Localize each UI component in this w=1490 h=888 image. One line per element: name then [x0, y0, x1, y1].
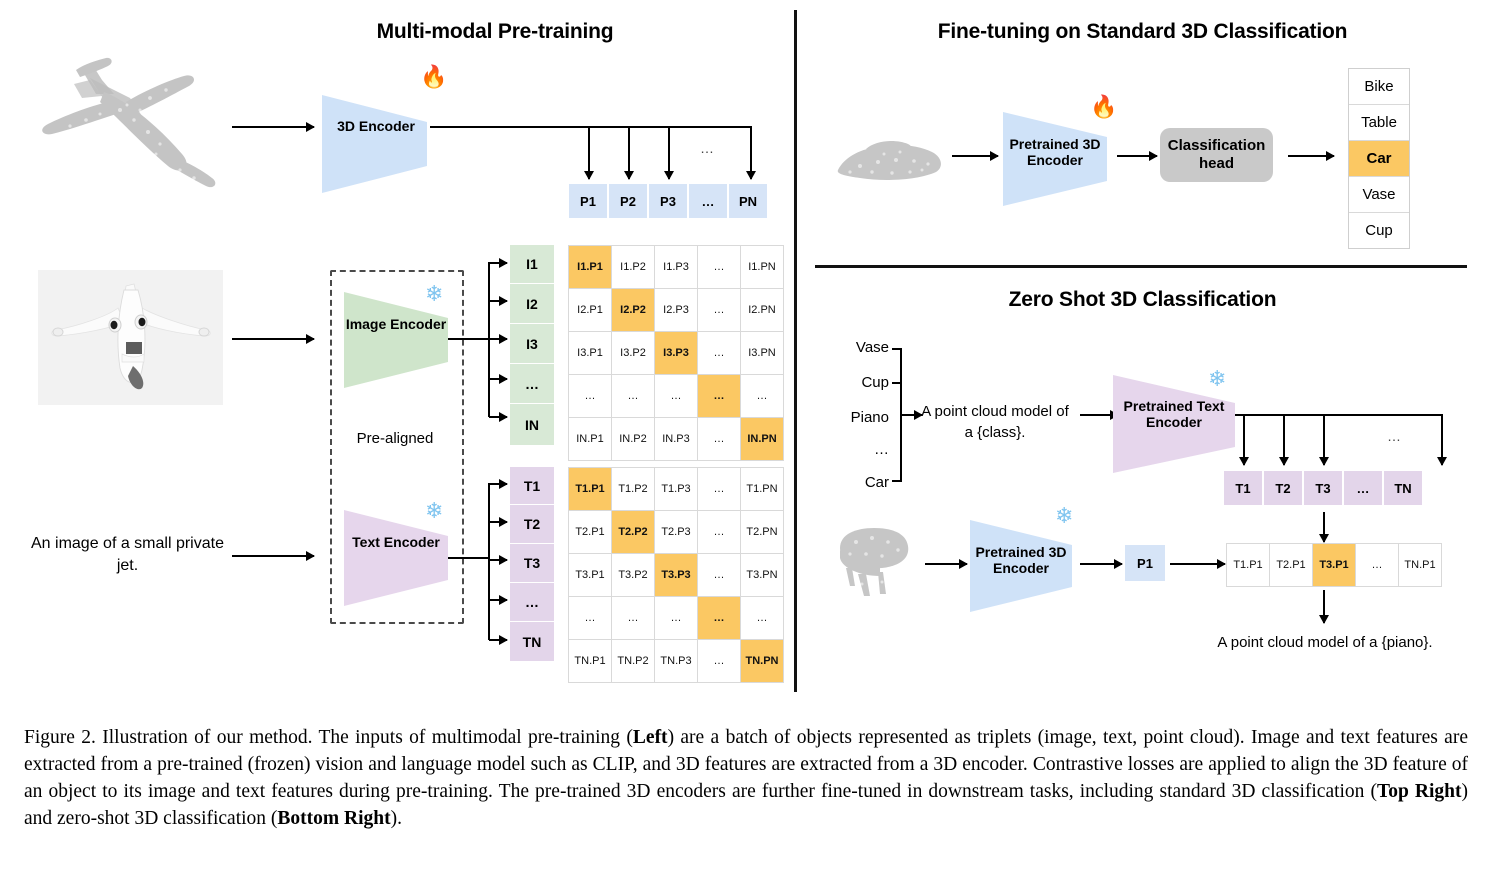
zeroshot-class-cup: Cup	[833, 374, 889, 391]
image-thumbnail-jet	[38, 270, 223, 405]
matrix-cell: I1.PN	[741, 246, 784, 289]
arrow-to-p3	[668, 127, 670, 179]
prealigned-label: Pre-aligned	[330, 430, 460, 447]
matrix-cell: …	[569, 597, 612, 640]
pretrained-3d-encoder-label-zs: Pretrained 3D Encoder	[970, 544, 1072, 576]
arrow-to-i2	[489, 300, 507, 302]
point-cloud-car	[832, 130, 947, 190]
point-token: P1	[568, 183, 608, 219]
arrow-pointcloud-to-3d-encoder	[232, 126, 314, 128]
vertical-divider	[794, 10, 797, 692]
matrix-cell: T1.P1	[569, 468, 612, 511]
matrix-cell: IN.P3	[655, 418, 698, 461]
matrix-cell: …	[698, 640, 741, 683]
matrix-cell: IN.P2	[612, 418, 655, 461]
arrow-to-t1-zs	[1243, 415, 1245, 465]
matrix-row: … … … … …	[569, 375, 784, 418]
matrix-cell: TN.P2	[612, 640, 655, 683]
score-cell: T1.P1	[1227, 544, 1270, 587]
arrow-to-p1	[588, 127, 590, 179]
caption-part-1: Figure 2. Illustration of our method. Th…	[24, 727, 633, 748]
text-token-column: T1 T2 T3 … TN	[510, 467, 554, 661]
point-token: PN	[728, 183, 768, 219]
arrow-to-t-ellipsis	[489, 599, 507, 601]
matrix-cell: …	[655, 597, 698, 640]
matrix-cell: …	[698, 468, 741, 511]
score-cell: T2.P1	[1270, 544, 1313, 587]
zs-text-token-row: T1 T2 T3 … TN	[1223, 470, 1423, 506]
matrix-cell: TN.P3	[655, 640, 698, 683]
left-panel-title: Multi-modal Pre-training	[205, 20, 785, 44]
image-token: I3	[510, 324, 554, 364]
arrow-to-tn	[489, 639, 507, 641]
score-row: T1.P1 T2.P1 T3.P1 … TN.P1	[1227, 544, 1442, 587]
point-cloud-piano	[830, 518, 920, 603]
matrix-row: I3.P1 I3.P2 I3.P3 … I3.PN	[569, 332, 784, 375]
matrix-cell: T2.P3	[655, 511, 698, 554]
arrow-to-t2-zs	[1283, 415, 1285, 465]
image-encoder-shape	[344, 292, 452, 388]
matrix-row: T1.P1 T1.P2 T1.P3 … T1.PN	[569, 468, 784, 511]
zs-point-token-label: P1	[1137, 556, 1153, 571]
bracket-tick	[892, 480, 902, 482]
zs-text-token-ellipsis: …	[1387, 428, 1401, 444]
arrow-encoder-to-p1-zs	[1080, 563, 1122, 565]
text-point-similarity-matrix: T1.P1 T1.P2 T1.P3 … T1.PN T2.P1 T2.P2 T2…	[568, 467, 784, 683]
point-token-row: P1 P2 P3 … PN	[568, 183, 768, 219]
matrix-cell: …	[698, 597, 741, 640]
bus-line-image-encoder	[448, 338, 488, 340]
snowflake-icon-text-encoder: ❄	[425, 500, 443, 522]
image-encoder-label: Image Encoder	[344, 316, 448, 332]
matrix-row: TN.P1 TN.P2 TN.P3 … TN.PN	[569, 640, 784, 683]
matrix-cell: …	[698, 554, 741, 597]
classification-result-list: Bike Table Car Vase Cup	[1348, 68, 1410, 249]
text-token: T2	[510, 505, 554, 544]
zeroshot-result-text: A point cloud model of a {piano}.	[1185, 634, 1465, 651]
arrow-to-in	[489, 416, 507, 418]
classification-head-label: Classification head	[1160, 137, 1273, 173]
matrix-cell: I3.P2	[612, 332, 655, 375]
arrow-piano-to-encoder	[925, 563, 967, 565]
arrow-to-t2	[489, 521, 507, 523]
matrix-cell: …	[698, 246, 741, 289]
arrow-to-i-ellipsis	[489, 378, 507, 380]
snowflake-icon-image-encoder: ❄	[425, 283, 443, 305]
bottom-right-title: Zero Shot 3D Classification	[820, 288, 1465, 312]
matrix-cell: T1.PN	[741, 468, 784, 511]
matrix-cell: I1.P1	[569, 246, 612, 289]
matrix-cell: I3.P1	[569, 332, 612, 375]
arrow-to-tn-zs	[1441, 415, 1443, 465]
matrix-cell: I2.P1	[569, 289, 612, 332]
arrow-car-to-encoder	[952, 155, 998, 157]
caption-bold-topright: Top Right	[1377, 781, 1461, 802]
zeroshot-class-vase: Vase	[833, 339, 889, 356]
matrix-cell: …	[655, 375, 698, 418]
matrix-cell: …	[698, 511, 741, 554]
zs-text-token: T3	[1303, 470, 1343, 506]
matrix-cell: I2.P2	[612, 289, 655, 332]
prompt-template-text: A point cloud model of a {class}.	[918, 401, 1072, 443]
bus-line-text-encoder-zs	[1235, 414, 1443, 416]
fire-icon-3d-encoder: 🔥	[420, 66, 447, 88]
image-token: IN	[510, 404, 554, 445]
matrix-cell: TN.PN	[741, 640, 784, 683]
text-input-caption: An image of a small private jet.	[30, 533, 225, 577]
pretrained-text-encoder-label: Pretrained Text Encoder	[1113, 398, 1235, 430]
matrix-cell: I2.P3	[655, 289, 698, 332]
top-right-title: Fine-tuning on Standard 3D Classificatio…	[820, 20, 1465, 44]
image-point-similarity-matrix: I1.P1 I1.P2 I1.P3 … I1.PN I2.P1 I2.P2 I2…	[568, 245, 784, 461]
arrow-to-t3	[489, 559, 507, 561]
arrow-image-to-image-encoder	[232, 338, 314, 340]
arrow-head-to-classlist	[1288, 155, 1334, 157]
score-cell: …	[1356, 544, 1399, 587]
arrow-text-tokens-to-scores	[1323, 512, 1325, 542]
arrow-to-t3-zs	[1323, 415, 1325, 465]
image-token: …	[510, 364, 554, 404]
zs-text-token: T1	[1223, 470, 1263, 506]
matrix-row: I2.P1 I2.P2 I2.P3 … I2.PN	[569, 289, 784, 332]
matrix-row: T3.P1 T3.P2 T3.P3 … T3.PN	[569, 554, 784, 597]
arrow-to-i3	[489, 338, 507, 340]
matrix-row: I1.P1 I1.P2 I1.P3 … I1.PN	[569, 246, 784, 289]
matrix-cell: T3.P2	[612, 554, 655, 597]
matrix-cell: …	[698, 418, 741, 461]
pretrained-3d-encoder-label-ft: Pretrained 3D Encoder	[1003, 136, 1107, 168]
matrix-cell: I2.PN	[741, 289, 784, 332]
arrow-scores-to-result	[1323, 590, 1325, 623]
matrix-cell: T2.P2	[612, 511, 655, 554]
bracket-tick	[892, 348, 902, 350]
zs-text-token: …	[1343, 470, 1383, 506]
image-token-column: I1 I2 I3 … IN	[510, 245, 554, 445]
text-token: T3	[510, 544, 554, 583]
matrix-cell: …	[741, 375, 784, 418]
classification-head-box: Classification head	[1160, 128, 1273, 182]
image-token: I1	[510, 245, 554, 284]
bus-line-text-encoder	[448, 557, 488, 559]
score-cell: TN.P1	[1399, 544, 1442, 587]
matrix-row: … … … … …	[569, 597, 784, 640]
caption-bold-bottomright: Bottom Right	[277, 808, 390, 829]
matrix-cell: …	[698, 375, 741, 418]
zs-point-token: P1	[1125, 545, 1165, 581]
matrix-cell: T1.P3	[655, 468, 698, 511]
zs-text-token: TN	[1383, 470, 1423, 506]
matrix-cell: I3.PN	[741, 332, 784, 375]
bus-vertical-text	[488, 483, 490, 640]
matrix-cell: …	[569, 375, 612, 418]
matrix-cell: I1.P3	[655, 246, 698, 289]
text-encoder-shape	[344, 510, 452, 606]
class-option[interactable]: Vase	[1349, 177, 1409, 213]
point-token: P2	[608, 183, 648, 219]
matrix-cell: TN.P1	[569, 640, 612, 683]
zeroshot-class-car: Car	[833, 474, 889, 491]
bus-line-3d-to-point-tokens	[430, 126, 752, 128]
class-option[interactable]: Cup	[1349, 213, 1409, 248]
image-token: I2	[510, 284, 554, 324]
matrix-cell: I1.P2	[612, 246, 655, 289]
matrix-row: T2.P1 T2.P2 T2.P3 … T2.PN	[569, 511, 784, 554]
score-cell-selected: T3.P1	[1313, 544, 1356, 587]
zeroshot-class-piano: Piano	[825, 409, 889, 426]
caption-bold-left: Left	[633, 727, 668, 748]
zs-text-token: T2	[1263, 470, 1303, 506]
snowflake-icon-3d-encoder-zs: ❄	[1055, 505, 1073, 527]
zeroshot-class-ellipsis: …	[833, 441, 889, 458]
matrix-cell: T2.PN	[741, 511, 784, 554]
matrix-cell: T3.P3	[655, 554, 698, 597]
text-token: T1	[510, 467, 554, 505]
arrow-text-to-text-encoder	[232, 555, 314, 557]
matrix-cell: I3.P3	[655, 332, 698, 375]
fire-icon-finetune-encoder: 🔥	[1090, 96, 1117, 118]
horizontal-divider	[815, 265, 1467, 268]
text-token: …	[510, 583, 554, 622]
matrix-cell: …	[698, 332, 741, 375]
bracket-tick	[892, 382, 902, 384]
arrow-to-p2	[628, 127, 630, 179]
class-option[interactable]: Bike	[1349, 69, 1409, 105]
matrix-cell: T3.P1	[569, 554, 612, 597]
matrix-cell: T1.P2	[612, 468, 655, 511]
text-token: TN	[510, 622, 554, 661]
matrix-cell: T2.P1	[569, 511, 612, 554]
matrix-cell: …	[698, 289, 741, 332]
matrix-row: IN.P1 IN.P2 IN.P3 … IN.PN	[569, 418, 784, 461]
arrow-encoder-to-head	[1117, 155, 1157, 157]
matrix-cell: IN.PN	[741, 418, 784, 461]
caption-part-4: ).	[391, 808, 402, 829]
text-encoder-label: Text Encoder	[344, 534, 448, 550]
figure-caption: Figure 2. Illustration of our method. Th…	[24, 724, 1468, 832]
point-token: …	[688, 183, 728, 219]
point-cloud-airplane	[30, 50, 260, 210]
figure-canvas: Multi-modal Pre-training	[0, 0, 1490, 888]
point-token-ellipsis: …	[700, 140, 714, 156]
class-option[interactable]: Table	[1349, 105, 1409, 141]
matrix-cell: …	[612, 597, 655, 640]
point-token: P3	[648, 183, 688, 219]
arrow-to-t1	[489, 483, 507, 485]
three-d-encoder-shape	[322, 95, 432, 193]
arrow-to-pn	[750, 127, 752, 179]
arrow-p1-to-scores	[1170, 563, 1225, 565]
class-option-selected[interactable]: Car	[1349, 141, 1409, 177]
zeroshot-score-row: T1.P1 T2.P1 T3.P1 … TN.P1	[1226, 543, 1442, 587]
matrix-cell: …	[612, 375, 655, 418]
snowflake-icon-text-encoder-zs: ❄	[1208, 368, 1226, 390]
three-d-encoder-label: 3D Encoder	[322, 118, 430, 134]
matrix-cell: IN.P1	[569, 418, 612, 461]
matrix-cell: T3.PN	[741, 554, 784, 597]
arrow-to-i1	[489, 262, 507, 264]
matrix-cell: …	[741, 597, 784, 640]
